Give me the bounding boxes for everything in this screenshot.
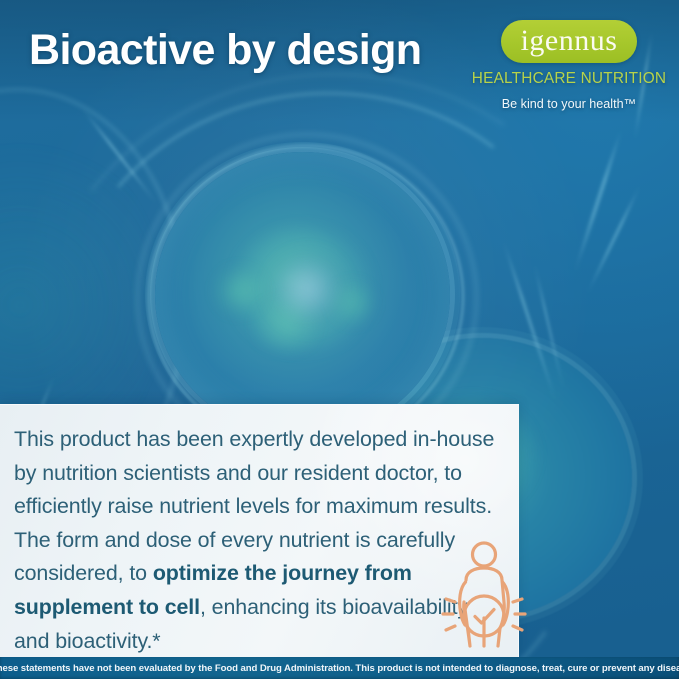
- brand-logo: igennus HEALTHCARE NUTRITION Be kind to …: [471, 20, 667, 111]
- fda-disclaimer-bar: * These statements have not been evaluat…: [0, 657, 679, 679]
- brand-name-text: igennus: [521, 26, 618, 56]
- page-title: Bioactive by design: [29, 26, 421, 75]
- product-banner: Bioactive by design igennus HEALTHCARE N…: [0, 0, 679, 679]
- brand-subtitle: HEALTHCARE NUTRITION: [471, 70, 667, 88]
- description-paragraph: This product has been expertly developed…: [14, 423, 506, 658]
- description-panel: This product has been expertly developed…: [0, 404, 519, 658]
- fda-disclaimer-text: * These statements have not been evaluat…: [0, 663, 679, 674]
- brand-tagline: Be kind to your health™: [471, 97, 667, 111]
- brand-name-pill: igennus: [501, 20, 637, 63]
